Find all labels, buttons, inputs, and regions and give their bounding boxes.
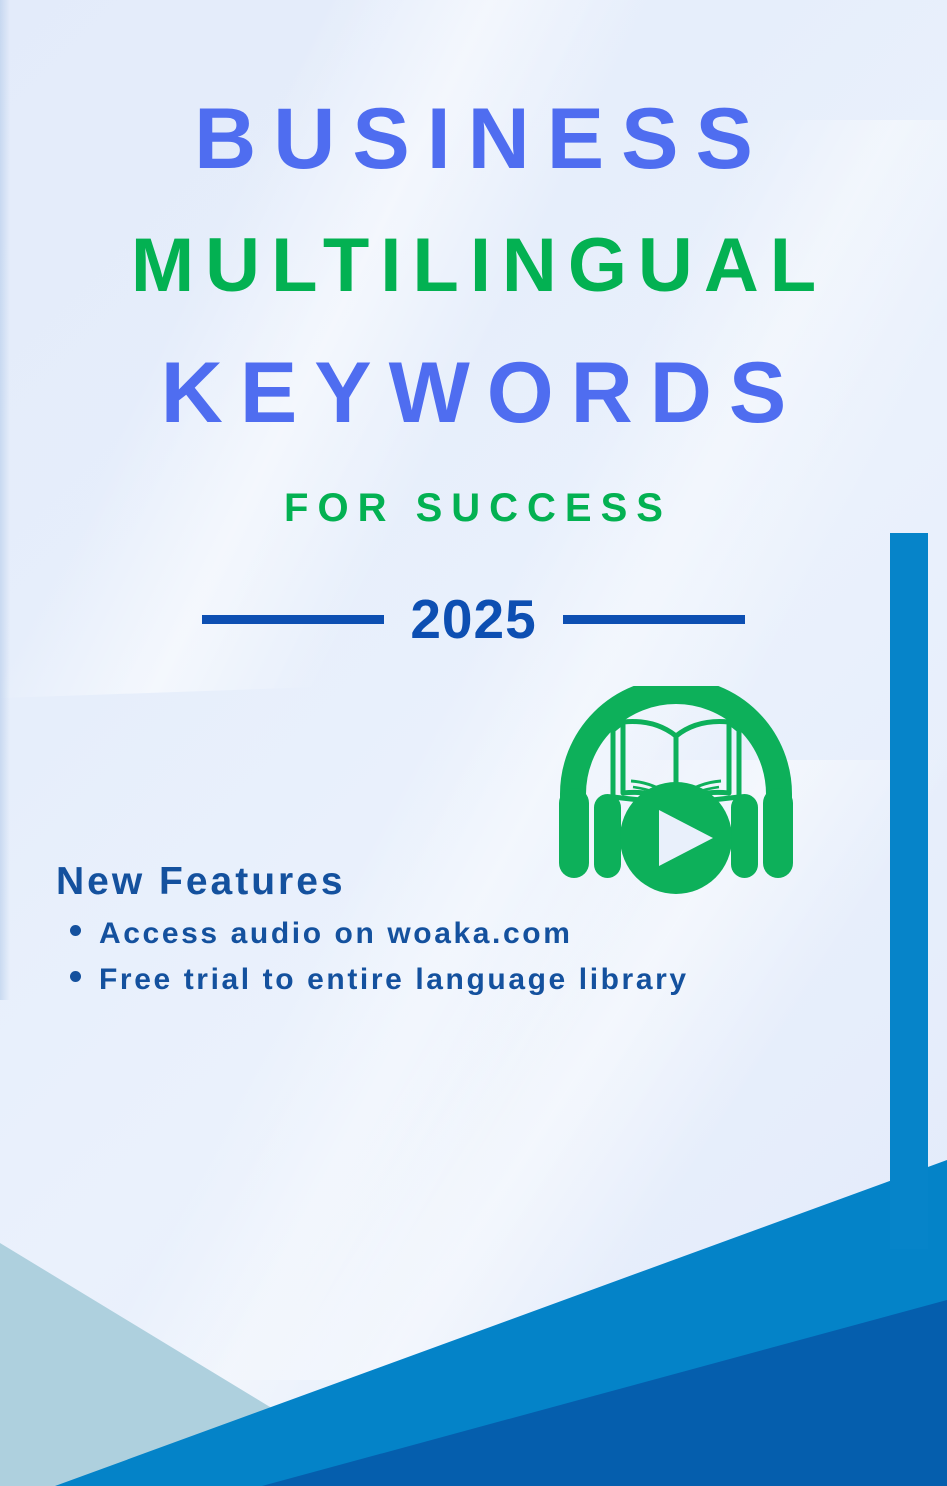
title-subtitle: FOR SUCCESS: [9, 488, 947, 528]
title-line-multilingual: MULTILINGUAL: [11, 228, 947, 304]
title-line-keywords: KEYWORDS: [17, 350, 947, 436]
title-block: BUSINESS MULTILINGUAL KEYWORDS FOR SUCCE…: [0, 96, 947, 528]
bullet-icon: [70, 925, 81, 936]
new-features-section: New Features Access audio on woaka.com F…: [56, 862, 906, 995]
feature-item-label: Free trial to entire language library: [99, 965, 689, 995]
feature-item-label: Access audio on woaka.com: [99, 919, 572, 949]
year-rule-right: [563, 615, 745, 624]
year-rule-left: [202, 615, 384, 624]
year-label: 2025: [410, 592, 536, 647]
features-list: Access audio on woaka.com Free trial to …: [56, 919, 906, 995]
title-line-business: BUSINESS: [17, 96, 947, 182]
book-cover: BUSINESS MULTILINGUAL KEYWORDS FOR SUCCE…: [0, 0, 947, 1486]
feature-list-item: Free trial to entire language library: [56, 965, 906, 995]
feature-list-item: Access audio on woaka.com: [56, 919, 906, 949]
bullet-icon: [70, 971, 81, 982]
features-heading: New Features: [56, 862, 906, 901]
year-row: 2025: [0, 592, 947, 647]
